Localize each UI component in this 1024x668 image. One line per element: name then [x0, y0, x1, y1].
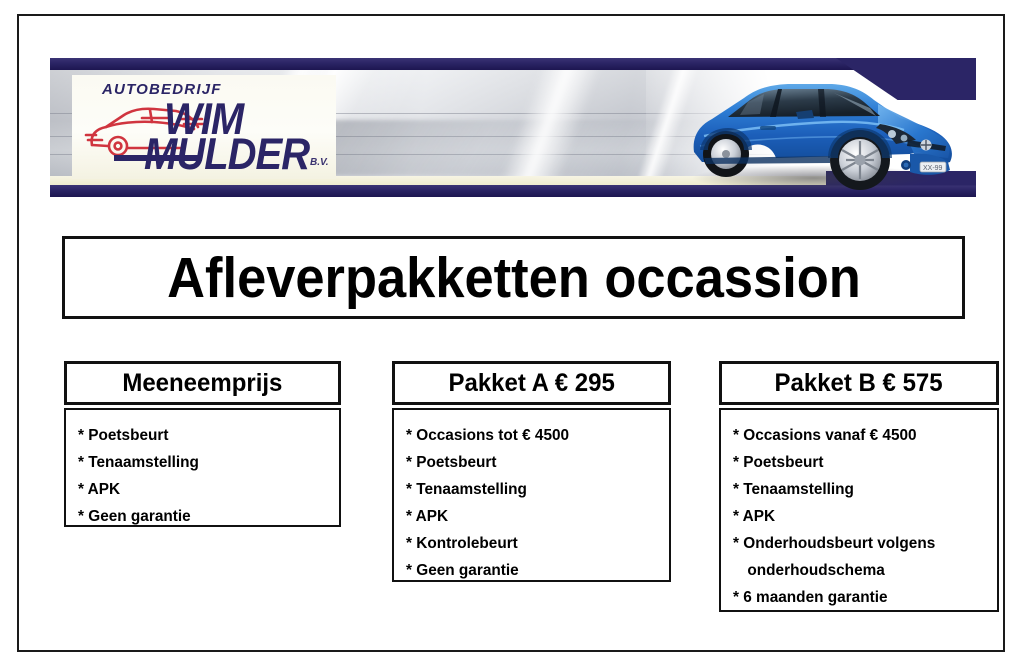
package-card-header: Pakket B € 575	[719, 361, 999, 405]
package-item: * APK	[733, 503, 986, 530]
car-photo: XX-99	[664, 66, 970, 194]
package-item: * Onderhoudsbeurt volgens	[733, 530, 986, 557]
package-card-pakket-b: Pakket B € 575 * Occasions vanaf € 4500 …	[719, 361, 999, 612]
page-title: Afleverpakketten occassion	[167, 245, 861, 311]
package-card-title: Pakket A € 295	[448, 369, 614, 398]
package-item: * Geen garantie	[406, 557, 658, 584]
svg-text:XX-99: XX-99	[923, 165, 943, 172]
package-item: * Tenaamstelling	[406, 476, 658, 503]
package-card-title: Pakket B € 575	[775, 369, 943, 398]
package-item: * Poetsbeurt	[733, 449, 986, 476]
package-item: * Occasions tot € 4500	[406, 422, 658, 449]
package-item: * Poetsbeurt	[406, 449, 658, 476]
package-item: * Geen garantie	[78, 503, 329, 530]
package-item: * Tenaamstelling	[78, 449, 329, 476]
package-card-pakket-a: Pakket A € 295 * Occasions tot € 4500 * …	[392, 361, 671, 582]
package-item: * Tenaamstelling	[733, 476, 986, 503]
package-card-meeneemprijs: Meeneemprijs * Poetsbeurt * Tenaamstelli…	[64, 361, 341, 527]
header-banner: XX-99	[50, 58, 976, 197]
package-card-header: Pakket A € 295	[392, 361, 671, 405]
package-item: * Poetsbeurt	[78, 422, 329, 449]
logo-name-line2: MULDER	[144, 130, 309, 180]
package-card-header: Meeneemprijs	[64, 361, 341, 405]
package-item: * APK	[406, 503, 658, 530]
package-card-body: * Occasions tot € 4500 * Poetsbeurt * Te…	[392, 408, 671, 582]
package-card-title: Meeneemprijs	[122, 369, 282, 398]
package-item: * 6 maanden garantie	[733, 584, 986, 611]
logo-legal-suffix: B.V.	[310, 157, 329, 168]
package-item: * Occasions vanaf € 4500	[733, 422, 986, 449]
package-item: * APK	[78, 476, 329, 503]
package-item-continuation: onderhoudschema	[733, 557, 986, 584]
page-title-box: Afleverpakketten occassion	[62, 236, 965, 319]
banner-inner: XX-99	[50, 58, 976, 197]
package-item: * Kontrolebeurt	[406, 530, 658, 557]
package-card-body: * Poetsbeurt * Tenaamstelling * APK * Ge…	[64, 408, 341, 527]
package-card-body: * Occasions vanaf € 4500 * Poetsbeurt * …	[719, 408, 999, 612]
company-logo: AUTOBEDRIJF WIM MULDER B.V.	[72, 75, 336, 179]
page-frame: XX-99	[17, 14, 1005, 652]
